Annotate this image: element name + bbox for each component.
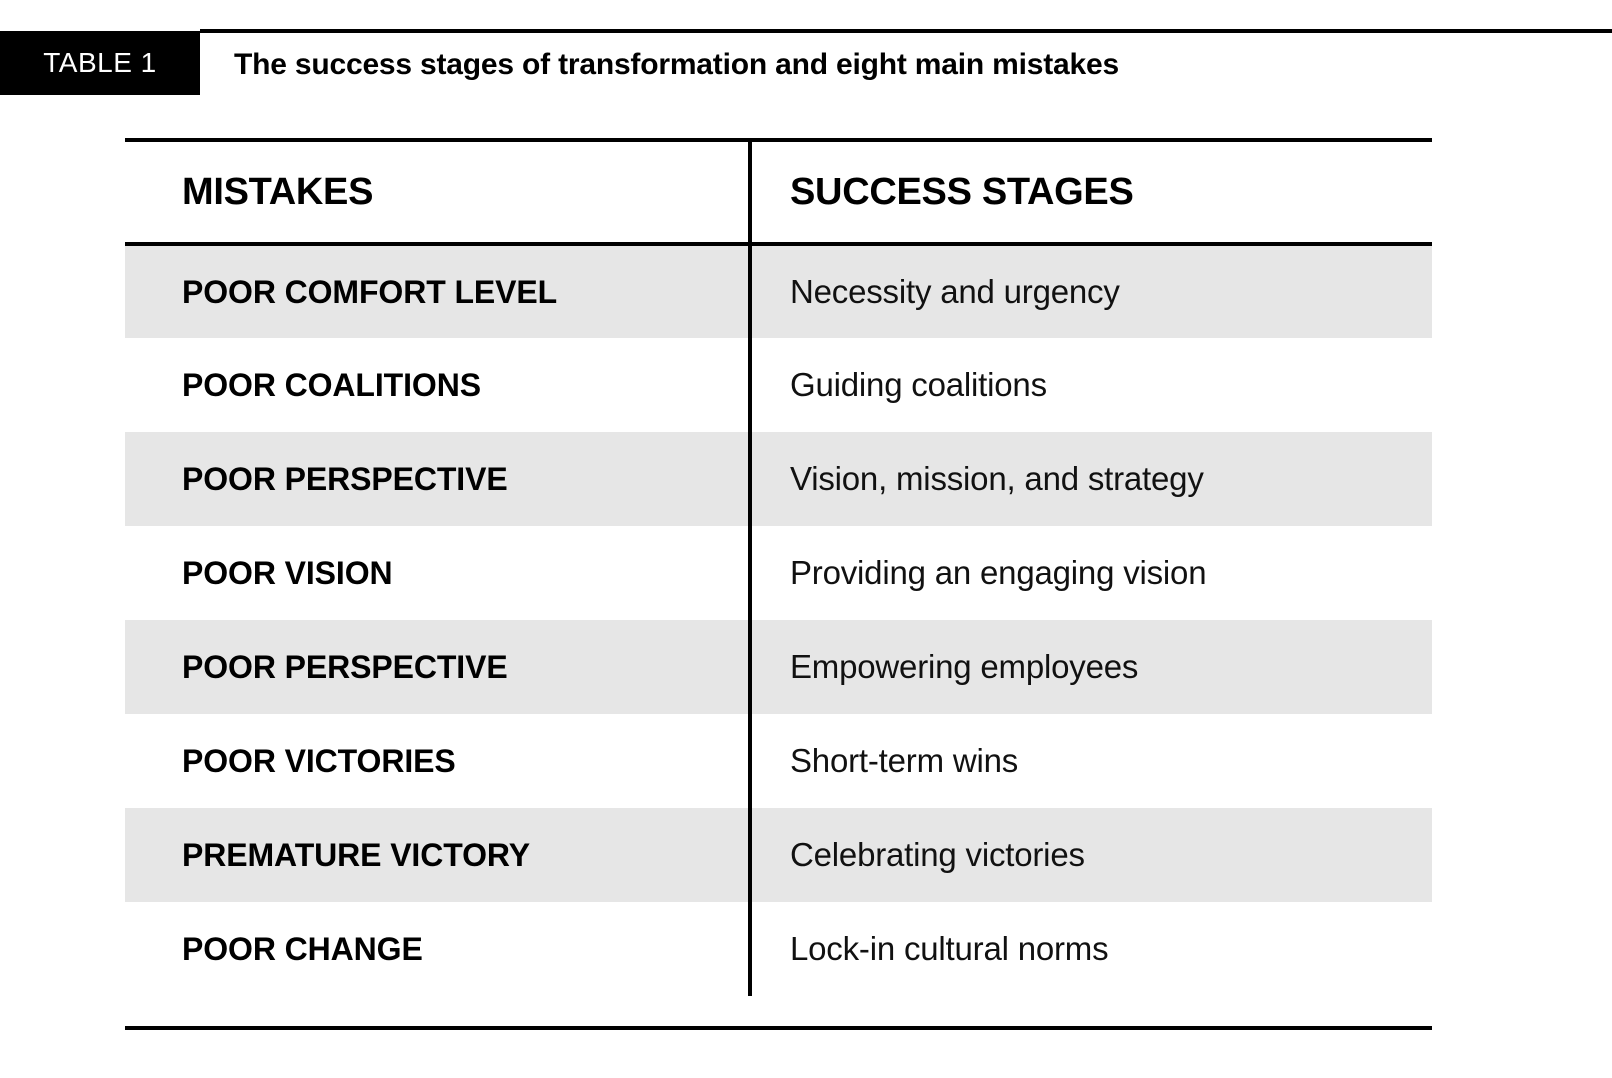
cell-success-stage-label: Providing an engaging vision bbox=[752, 554, 1432, 592]
table-number-badge: TABLE 1 bbox=[0, 31, 200, 95]
table-row: POOR VICTORIESShort-term wins bbox=[125, 714, 1432, 808]
cell-mistake-label: PREMATURE VICTORY bbox=[125, 837, 748, 874]
column-header-success-stages-label: SUCCESS STAGES bbox=[752, 171, 1432, 214]
cell-mistake: POOR COMFORT LEVEL bbox=[125, 244, 750, 338]
cell-success-stage: Short-term wins bbox=[750, 714, 1432, 808]
cell-success-stage-label: Necessity and urgency bbox=[752, 273, 1432, 311]
cell-success-stage-label: Guiding coalitions bbox=[752, 366, 1432, 404]
cell-success-stage: Guiding coalitions bbox=[750, 338, 1432, 432]
cell-mistake-label: POOR COALITIONS bbox=[125, 367, 748, 404]
table-header: MISTAKES SUCCESS STAGES bbox=[125, 140, 1432, 244]
cell-mistake: POOR CHANGE bbox=[125, 902, 750, 996]
cell-mistake-label: POOR COMFORT LEVEL bbox=[125, 274, 748, 311]
caption-top-rule bbox=[200, 29, 1612, 33]
cell-success-stage: Empowering employees bbox=[750, 620, 1432, 714]
cell-mistake: POOR PERSPECTIVE bbox=[125, 620, 750, 714]
cell-success-stage: Necessity and urgency bbox=[750, 244, 1432, 338]
table-row: POOR CHANGELock-in cultural norms bbox=[125, 902, 1432, 996]
cell-mistake: POOR COALITIONS bbox=[125, 338, 750, 432]
table-row: POOR PERSPECTIVEEmpowering employees bbox=[125, 620, 1432, 714]
table-row: POOR COMFORT LEVELNecessity and urgency bbox=[125, 244, 1432, 338]
cell-success-stage: Lock-in cultural norms bbox=[750, 902, 1432, 996]
cell-success-stage: Providing an engaging vision bbox=[750, 526, 1432, 620]
cell-success-stage-label: Vision, mission, and strategy bbox=[752, 460, 1432, 498]
cell-mistake: POOR VISION bbox=[125, 526, 750, 620]
table-body: POOR COMFORT LEVELNecessity and urgencyP… bbox=[125, 244, 1432, 996]
table-bottom-rule bbox=[125, 1026, 1432, 1030]
cell-mistake: POOR VICTORIES bbox=[125, 714, 750, 808]
cell-mistake-label: POOR PERSPECTIVE bbox=[125, 461, 748, 498]
table-figure: TABLE 1 The success stages of transforma… bbox=[0, 0, 1612, 1078]
column-header-success-stages: SUCCESS STAGES bbox=[750, 140, 1432, 244]
table-row: POOR VISIONProviding an engaging vision bbox=[125, 526, 1432, 620]
header-row: MISTAKES SUCCESS STAGES bbox=[125, 140, 1432, 244]
cell-mistake: PREMATURE VICTORY bbox=[125, 808, 750, 902]
cell-success-stage-label: Celebrating victories bbox=[752, 836, 1432, 874]
cell-mistake-label: POOR VISION bbox=[125, 555, 748, 592]
cell-mistake-label: POOR VICTORIES bbox=[125, 743, 748, 780]
table-row: POOR PERSPECTIVEVision, mission, and str… bbox=[125, 432, 1432, 526]
data-table: MISTAKES SUCCESS STAGES POOR COMFORT LEV… bbox=[125, 138, 1432, 996]
table-title: The success stages of transformation and… bbox=[234, 48, 1534, 82]
cell-success-stage-label: Lock-in cultural norms bbox=[752, 930, 1432, 968]
table-row: POOR COALITIONSGuiding coalitions bbox=[125, 338, 1432, 432]
cell-mistake: POOR PERSPECTIVE bbox=[125, 432, 750, 526]
cell-mistake-label: POOR CHANGE bbox=[125, 931, 748, 968]
table-number-label: TABLE 1 bbox=[43, 47, 156, 79]
cell-success-stage-label: Short-term wins bbox=[752, 742, 1432, 780]
cell-mistake-label: POOR PERSPECTIVE bbox=[125, 649, 748, 686]
table-container: MISTAKES SUCCESS STAGES POOR COMFORT LEV… bbox=[125, 138, 1432, 996]
cell-success-stage: Vision, mission, and strategy bbox=[750, 432, 1432, 526]
column-header-mistakes: MISTAKES bbox=[125, 140, 750, 244]
column-header-mistakes-label: MISTAKES bbox=[125, 171, 748, 214]
cell-success-stage-label: Empowering employees bbox=[752, 648, 1432, 686]
table-row: PREMATURE VICTORYCelebrating victories bbox=[125, 808, 1432, 902]
cell-success-stage: Celebrating victories bbox=[750, 808, 1432, 902]
